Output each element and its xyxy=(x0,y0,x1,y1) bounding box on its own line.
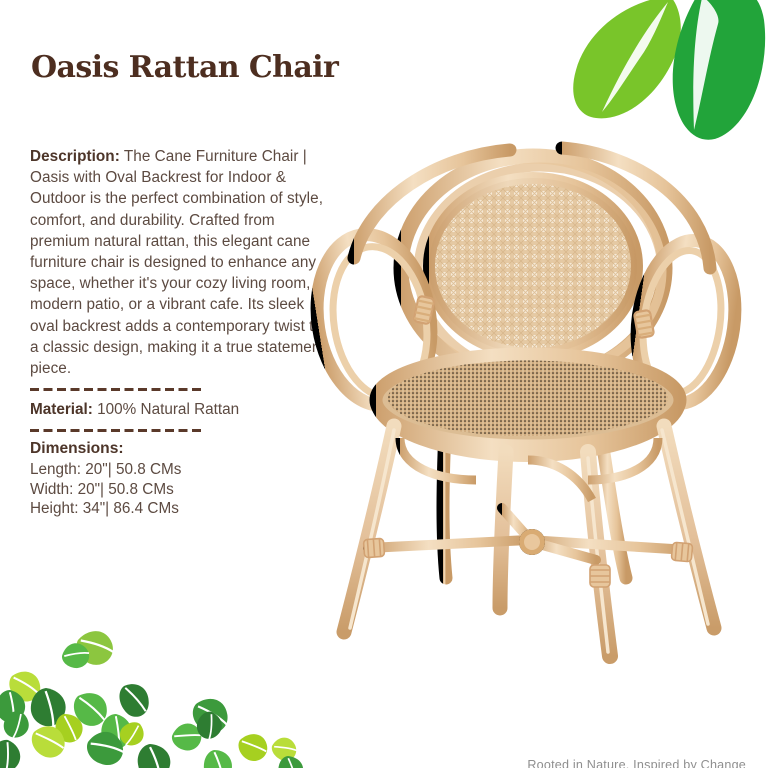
material-label: Material: xyxy=(30,401,93,418)
product-image xyxy=(296,108,768,688)
dimension-length: Length: 20"| 50.8 CMs xyxy=(30,460,330,480)
product-details-column: Description: The Cane Furniture Chair | … xyxy=(30,146,330,519)
chair-illustration xyxy=(305,148,745,656)
scattered-leaves-cluster xyxy=(0,618,330,768)
backrest-cane-panel xyxy=(429,178,637,354)
dimension-height: Height: 34"| 86.4 CMs xyxy=(30,499,330,519)
material-row: Material: 100% Natural Rattan xyxy=(30,399,330,420)
material-value: 100% Natural Rattan xyxy=(93,401,239,418)
dimensions-heading: Dimensions: xyxy=(30,440,330,458)
product-title: Oasis Rattan Chair xyxy=(31,50,338,85)
stretcher-binding-wraps xyxy=(363,529,692,587)
description-text: The Cane Furniture Chair | Oasis with Ov… xyxy=(30,148,325,377)
product-info-card: Oasis Rattan Chair Description: The Cane… xyxy=(0,0,768,768)
divider-above-material xyxy=(30,388,205,391)
leaf-light-icon xyxy=(573,0,681,118)
dimension-width: Width: 20"| 50.8 CMs xyxy=(30,480,330,500)
brand-tagline: Rooted in Nature, Inspired by Change xyxy=(527,758,746,768)
dimensions-list: Length: 20"| 50.8 CMs Width: 20"| 50.8 C… xyxy=(30,460,330,519)
description-label: Description: xyxy=(30,148,120,165)
description-paragraph: Description: The Cane Furniture Chair | … xyxy=(30,146,330,379)
leaf-shapes xyxy=(0,624,307,768)
chair-seat xyxy=(376,354,680,456)
divider-above-dimensions xyxy=(30,429,205,432)
